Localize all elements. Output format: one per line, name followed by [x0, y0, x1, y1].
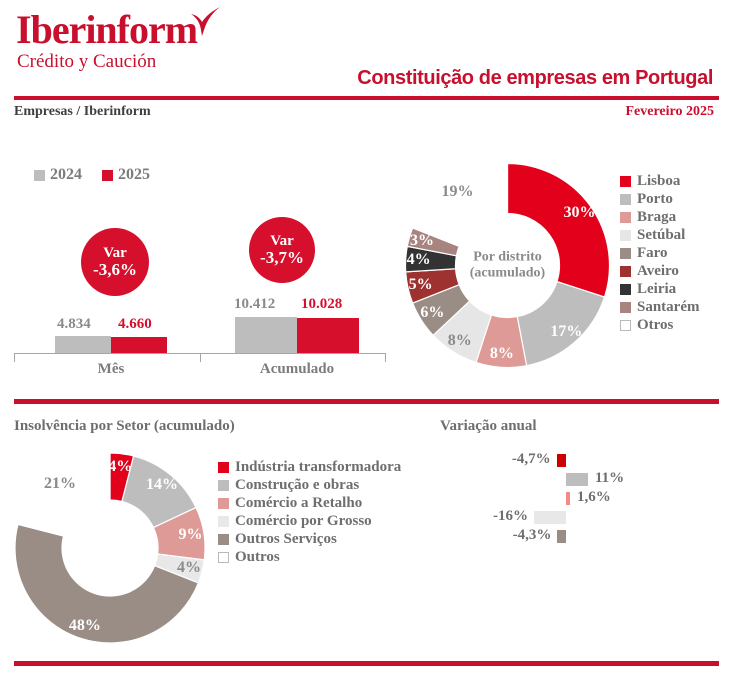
legend-swatch — [620, 230, 631, 241]
legend-item[interactable]: Construção e obras — [218, 476, 401, 494]
legend-item[interactable]: Comércio por Grosso — [218, 512, 401, 530]
legend-label: Aveiro — [637, 263, 679, 280]
legend-item[interactable]: Comércio a Retalho — [218, 494, 401, 512]
por-distrito-center-text: Por distrito (acumulado) — [470, 249, 545, 282]
legend-item[interactable]: Outros — [218, 548, 401, 566]
insolvencia-setor-legend: Indústria transformadoraConstrução e obr… — [218, 458, 401, 566]
donut-slice-label: 30% — [564, 204, 596, 222]
donut-slice-label: 19% — [441, 183, 473, 201]
legend-item[interactable]: Otros — [620, 316, 700, 334]
legend-swatch — [620, 176, 631, 187]
legend-label: Comércio a Retalho — [235, 495, 362, 512]
legend-swatch — [620, 320, 631, 331]
header-divider — [14, 96, 719, 100]
legend-swatch — [218, 552, 229, 563]
legend-item[interactable]: Indústria transformadora — [218, 458, 401, 476]
legend-swatch — [620, 194, 631, 205]
legend-swatch — [218, 534, 229, 545]
donut-slice-label: 17% — [550, 323, 582, 341]
page-title: Constituição de empresas em Portugal — [357, 67, 713, 90]
var-bubble-mes: Var -3,6% — [81, 228, 149, 296]
legend-item[interactable]: Porto — [620, 190, 700, 208]
var-bubble-acumulado-caption: Var — [270, 233, 294, 249]
legend-label: Faro — [637, 245, 668, 262]
var-bubble-acumulado-value: -3,7% — [260, 249, 304, 267]
variacao-section-title: Variação anual — [440, 418, 537, 435]
insolvencia-setor-donut: 4%14%9%4%48%21% — [15, 453, 205, 643]
var-bubble-mes-caption: Var — [103, 245, 127, 261]
variacao-bar-label: -4,7% — [512, 451, 551, 468]
bar-category-acumulado: Acumulado — [235, 361, 359, 378]
axis-tick-right — [385, 353, 386, 362]
donut-slice — [18, 453, 110, 536]
legend-swatch — [620, 302, 631, 313]
bar-value-mes-2024: 4.834 — [57, 316, 91, 333]
legend-item[interactable]: Leiria — [620, 280, 700, 298]
donut-slice-label: 4% — [108, 458, 132, 476]
bar-category-mes: Mês — [55, 361, 167, 378]
legend-item[interactable]: Santarém — [620, 298, 700, 316]
breadcrumb: Empresas / Iberinform — [14, 104, 151, 120]
bar-value-acumulado-2025: 10.028 — [301, 296, 342, 313]
legend-label: Leiria — [637, 281, 676, 298]
donut-slice-label: 8% — [448, 332, 472, 350]
legend-item[interactable]: Setúbal — [620, 226, 700, 244]
bar-mes-2024 — [55, 336, 111, 353]
legend-swatch — [218, 480, 229, 491]
donut-slice-label: 3% — [410, 232, 434, 250]
donut-slice-label: 21% — [44, 475, 76, 493]
variacao-bar-label: -4,3% — [513, 527, 552, 544]
por-distrito-center-subtitle: (acumulado) — [470, 266, 545, 283]
variacao-anual-bar-chart: -4,7%11%1,6%-16%-4,3% — [430, 450, 730, 550]
brand-logo-tagline: Crédito y Caución — [17, 52, 156, 71]
donut-slice-label: 5% — [409, 276, 433, 294]
variacao-bar — [566, 492, 570, 505]
bar-value-mes-2025: 4.660 — [118, 316, 152, 333]
var-bubble-mes-value: -3,6% — [93, 261, 137, 279]
legend-label: Construção e obras — [235, 477, 359, 494]
legend-item[interactable]: Aveiro — [620, 262, 700, 280]
bar-value-acumulado-2024: 10.412 — [234, 296, 275, 313]
legend-swatch — [620, 248, 631, 259]
legend-label: Setúbal — [637, 227, 685, 244]
por-distrito-legend: LisboaPortoBragaSetúbalFaroAveiroLeiriaS… — [620, 172, 700, 334]
report-period: Fevereiro 2025 — [625, 104, 714, 120]
por-distrito-center-title: Por distrito — [470, 249, 545, 266]
donut-slice-label: 14% — [146, 476, 178, 494]
donut-slice-label: 9% — [178, 526, 202, 544]
por-distrito-donut: Por distrito (acumulado) 30%17%8%8%6%5%4… — [405, 163, 610, 368]
infographic-page: Iberinform Crédito y Caución Constituiçã… — [0, 0, 733, 677]
donut-slice-label: 8% — [490, 345, 514, 363]
legend-label: Porto — [637, 191, 673, 208]
legend-label: Lisboa — [637, 173, 680, 190]
donut-slice-label: 48% — [69, 617, 101, 635]
legend-swatch — [218, 516, 229, 527]
legend-label: Outros Serviços — [235, 531, 337, 548]
swoosh-bird-icon — [182, 6, 222, 40]
legend-swatch — [218, 498, 229, 509]
legend-swatch — [620, 284, 631, 295]
variacao-bar-label: -16% — [493, 508, 528, 525]
legend-item[interactable]: Faro — [620, 244, 700, 262]
variacao-bar-label: 11% — [595, 470, 624, 487]
donut-slice-label: 4% — [177, 559, 201, 577]
bar-acumulado-2024 — [235, 317, 297, 353]
legend-swatch — [620, 212, 631, 223]
brand-logo-wordmark: Iberinform — [16, 10, 197, 50]
axis-tick-mid — [200, 353, 201, 362]
insolvencia-section-title: Insolvência por Setor (acumulado) — [14, 418, 235, 435]
legend-swatch — [218, 462, 229, 473]
donut-slice-label: 6% — [420, 304, 444, 322]
donut-slice-label: 4% — [407, 251, 431, 269]
legend-item[interactable]: Braga — [620, 208, 700, 226]
variacao-bar-label: 1,6% — [577, 489, 611, 506]
legend-item[interactable]: Lisboa — [620, 172, 700, 190]
variacao-bar — [557, 454, 566, 467]
constituicao-bar-chart: 4.834 4.660 Mês 10.412 10.028 Acumulado … — [0, 155, 400, 395]
var-bubble-acumulado: Var -3,7% — [249, 217, 315, 283]
legend-label: Otros — [637, 317, 673, 334]
axis-tick-left — [14, 353, 15, 362]
legend-label: Indústria transformadora — [235, 459, 401, 476]
legend-label: Outros — [235, 549, 280, 566]
section-divider — [14, 399, 719, 404]
bar-acumulado-2025 — [297, 318, 359, 353]
legend-item[interactable]: Outros Serviços — [218, 530, 401, 548]
footer-divider — [14, 661, 719, 666]
legend-label: Comércio por Grosso — [235, 513, 372, 530]
legend-swatch — [620, 266, 631, 277]
legend-label: Braga — [637, 209, 676, 226]
bar-mes-2025 — [111, 337, 167, 353]
variacao-bar — [534, 511, 566, 524]
variacao-bar — [566, 473, 588, 486]
variacao-bar — [557, 530, 566, 543]
legend-label: Santarém — [637, 299, 700, 316]
